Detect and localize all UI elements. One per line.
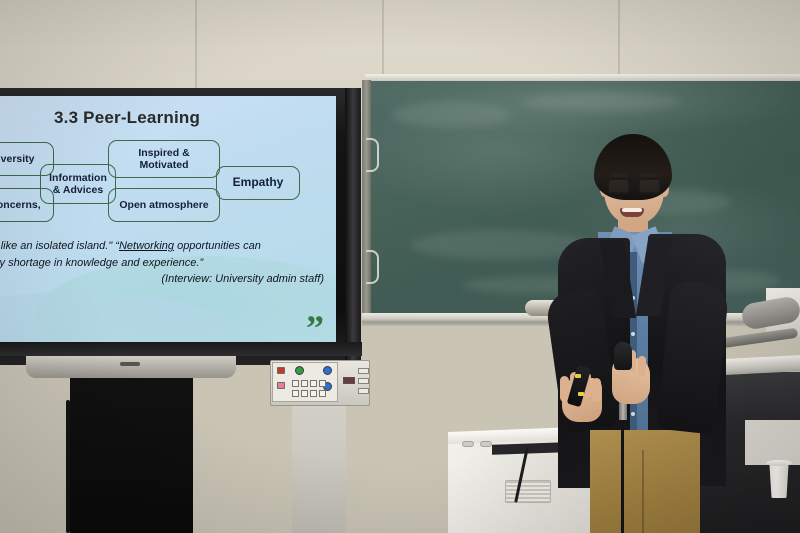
remote-button-2[interactable] (578, 392, 584, 396)
node-inspired: Inspired & Motivated (108, 140, 220, 178)
photo-scene: 3.3 Peer-Learning ned in diversity nges … (0, 0, 800, 533)
paper-cup-rim (766, 460, 792, 466)
shirt-button-2 (631, 332, 635, 336)
btn-pink[interactable] (277, 382, 285, 389)
control-panel-display (343, 377, 355, 384)
quote-line-1: ce] is like an isolated island." “Networ… (0, 238, 332, 255)
finger-r-3 (638, 356, 646, 376)
switch-4[interactable] (319, 380, 326, 387)
switch-1[interactable] (292, 380, 299, 387)
chalkboard-handle-upper[interactable] (366, 138, 379, 172)
eyeglasses-bridge (630, 184, 638, 186)
presenter (520, 120, 740, 533)
btn-green[interactable] (295, 366, 304, 375)
chalkboard-top-rail (365, 74, 800, 81)
btn-blue-1[interactable] (323, 366, 332, 375)
switch-2[interactable] (301, 380, 308, 387)
eyeglasses-lens-left (607, 178, 630, 194)
shirt-button-4 (631, 412, 635, 416)
chalkboard-left-edge (362, 80, 371, 320)
chalkboard-handle-lower[interactable] (366, 250, 379, 284)
btn-red[interactable] (277, 367, 285, 374)
quote-line-1-before: ce] is like an isolated island." “ (0, 240, 119, 252)
presenter-trousers (590, 430, 700, 533)
display-bottom-bezel (0, 342, 362, 356)
presentation-slide: 3.3 Peer-Learning ned in diversity nges … (0, 96, 336, 342)
switch-5[interactable] (292, 390, 299, 397)
slide-title: 3.3 Peer-Learning (54, 108, 200, 128)
desk-side-panel (745, 420, 800, 465)
node-information-label: Information& Advices (49, 172, 107, 196)
node-empathy: Empathy (216, 166, 300, 200)
av-cabinet-knob-2[interactable] (480, 441, 492, 447)
control-panel-stand (292, 406, 346, 533)
switch-3[interactable] (310, 380, 317, 387)
node-information: Information& Advices (40, 164, 116, 204)
display-stand-cable (66, 400, 70, 533)
presenter-brow-right (640, 174, 658, 177)
quote-underlined-term: Networking (119, 240, 174, 252)
presenter-brow-left (610, 174, 628, 177)
control-right-button-2[interactable] (358, 378, 369, 384)
node-open: Open atmosphere (108, 188, 220, 222)
microphone-cord (621, 416, 624, 533)
quote-line-1-after: opportunities can (174, 240, 261, 252)
paper-cup (768, 462, 790, 498)
quote-line-2: ent my shortage in knowledge and experie… (0, 255, 332, 272)
eyeglasses-lens-right (638, 178, 661, 194)
display-stand (70, 378, 193, 533)
finger-l-4 (592, 378, 601, 402)
quotation-mark-glyph: ” (306, 318, 324, 340)
remote-button-1[interactable] (575, 374, 581, 378)
control-right-button-1[interactable] (358, 368, 369, 374)
presenter-trouser-crease (642, 450, 644, 533)
microphone-head (614, 342, 632, 370)
av-cabinet-knob-1[interactable] (462, 441, 474, 447)
slide-quote: ce] is like an isolated island." “Networ… (0, 238, 332, 288)
switch-6[interactable] (301, 390, 308, 397)
control-right-button-3[interactable] (358, 388, 369, 394)
switch-8[interactable] (319, 390, 326, 397)
display-right-bezel (345, 88, 361, 365)
display-tray (26, 356, 236, 378)
display-tray-slot (120, 362, 140, 366)
quote-attribution: (Interview: University admin staff) (0, 271, 332, 288)
switch-7[interactable] (310, 390, 317, 397)
presenter-teeth (622, 208, 642, 212)
